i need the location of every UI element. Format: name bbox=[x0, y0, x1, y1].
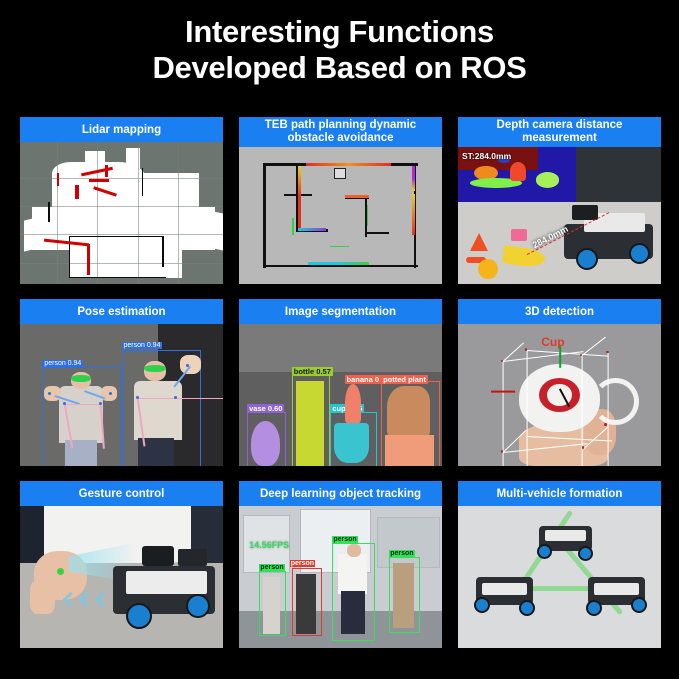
seg-mask-cup bbox=[334, 423, 369, 463]
panel-image-depth-camera: ST:284.0mm 284.0mm bbox=[458, 147, 661, 284]
panel-object-tracking[interactable]: Deep learning object tracking 14.56FPS p… bbox=[239, 481, 442, 648]
person-legs bbox=[65, 440, 97, 466]
panel-pose-estimation[interactable]: Pose estimation person 0.94 bbox=[20, 299, 223, 466]
robot-wheel bbox=[537, 544, 552, 559]
track-label: person bbox=[389, 550, 414, 557]
depth-status-readout: ST:284.0mm bbox=[462, 151, 511, 161]
panel-image-gesture-control bbox=[20, 506, 223, 648]
panel-teb-path-planning[interactable]: TEB path planning dynamic obstacle avoid… bbox=[239, 117, 442, 284]
robot-car-deck bbox=[482, 583, 527, 596]
tracked-person bbox=[393, 563, 413, 628]
page-title: Interesting Functions Developed Based on… bbox=[0, 14, 679, 86]
tracked-person-head bbox=[347, 544, 361, 557]
axis-y bbox=[559, 345, 561, 367]
robot-wheel bbox=[576, 248, 598, 270]
panel-3d-detection[interactable]: 3D detection Cup bbox=[458, 299, 661, 466]
title-line-1: Interesting Functions bbox=[0, 14, 679, 50]
panel-header-object-tracking: Deep learning object tracking bbox=[239, 481, 442, 506]
panel-header-line-1: Depth camera distance bbox=[497, 119, 623, 131]
panel-image-lidar-mapping bbox=[20, 142, 223, 284]
tracked-person bbox=[296, 574, 316, 634]
tracked-person bbox=[263, 577, 279, 634]
panel-depth-camera[interactable]: Depth camera distance measurement ST:284… bbox=[458, 117, 661, 284]
panel-image-teb-path-planning bbox=[239, 147, 442, 284]
track-label: person bbox=[290, 560, 315, 567]
robot-car-deck bbox=[594, 583, 639, 596]
panel-header-3d-detection: 3D detection bbox=[458, 299, 661, 324]
person-hand bbox=[180, 355, 200, 373]
hand-fingers bbox=[30, 580, 54, 614]
panel-image-image-segmentation: vase 0.60 bottle 0.57 cup 0.75 banana 0 … bbox=[239, 324, 442, 466]
panel-header-pose-estimation: Pose estimation bbox=[20, 299, 223, 324]
segment-label-vase: vase 0.60 bbox=[247, 404, 284, 413]
axis-x bbox=[491, 391, 515, 393]
title-line-2: Developed Based on ROS bbox=[0, 50, 679, 86]
panel-header-depth-camera: Depth camera distance measurement bbox=[458, 117, 661, 147]
traffic-cone bbox=[470, 233, 488, 251]
detection-label: person 0.94 bbox=[122, 342, 163, 349]
panel-header-line-1: TEB path planning dynamic bbox=[265, 119, 416, 131]
segment-label-bottle: bottle 0.57 bbox=[292, 367, 333, 376]
robot-wheel bbox=[578, 546, 593, 561]
robot-wheel bbox=[519, 600, 535, 616]
panel-image-pose-estimation: person 0.94 person 0.94 bbox=[20, 324, 223, 466]
seg-mask-bottle bbox=[296, 381, 324, 466]
robot-car-deck bbox=[126, 571, 207, 594]
robot-wheel bbox=[586, 600, 602, 616]
panel-image-segmentation[interactable]: Image segmentation vase 0.60 bottle 0.57… bbox=[239, 299, 442, 466]
panel-image-object-tracking: 14.56FPS person person person person bbox=[239, 506, 442, 648]
robot-sensor bbox=[178, 549, 206, 566]
pink-block bbox=[511, 229, 527, 241]
pegboard-wall bbox=[576, 147, 661, 202]
track-label: person bbox=[259, 564, 284, 571]
panel-multi-vehicle-formation[interactable]: Multi-vehicle formation bbox=[458, 481, 661, 648]
panel-image-3d-detection: Cup bbox=[458, 324, 661, 466]
panel-lidar-mapping[interactable]: Lidar mapping bbox=[20, 117, 223, 284]
person-hand bbox=[44, 386, 60, 400]
robot-camera bbox=[142, 546, 174, 566]
feature-grid: Lidar mapping bbox=[20, 117, 662, 665]
seg-mask-plant bbox=[387, 386, 430, 437]
robot-wheel bbox=[629, 243, 650, 264]
robot-camera bbox=[572, 205, 598, 220]
panel-header-multi-vehicle-formation: Multi-vehicle formation bbox=[458, 481, 661, 506]
panel-header-image-segmentation: Image segmentation bbox=[239, 299, 442, 324]
tracked-person-legs bbox=[341, 591, 365, 634]
fps-readout: 14.56FPS bbox=[249, 540, 289, 550]
segment-label-banana: banana 0 bbox=[345, 375, 382, 384]
robot-wheel bbox=[474, 597, 490, 613]
seg-mask-vase bbox=[251, 421, 279, 466]
segment-label-potted-plant: potted plant bbox=[381, 375, 428, 384]
panel-header-gesture-control: Gesture control bbox=[20, 481, 223, 506]
panel-image-multi-vehicle-formation bbox=[458, 506, 661, 648]
track-label: person bbox=[332, 536, 357, 543]
mug-handle bbox=[592, 378, 639, 425]
seg-mask-banana bbox=[345, 384, 361, 424]
panel-header-lidar-mapping: Lidar mapping bbox=[20, 117, 223, 142]
face-keypoints bbox=[71, 375, 91, 382]
seg-mask-pot bbox=[385, 435, 434, 466]
detection-label: person 0.94 bbox=[42, 360, 83, 367]
object-class-label: Cup bbox=[541, 335, 564, 349]
robot-wheel bbox=[631, 597, 647, 613]
poster-root: Interesting Functions Developed Based on… bbox=[0, 0, 679, 679]
panel-header-line-2: measurement bbox=[522, 132, 597, 144]
panel-header-teb-path-planning: TEB path planning dynamic obstacle avoid… bbox=[239, 117, 442, 147]
tracked-person bbox=[338, 554, 366, 594]
panel-gesture-control[interactable]: Gesture control bbox=[20, 481, 223, 648]
robot-wheel bbox=[126, 603, 152, 629]
panel-header-line-2: obstacle avoidance bbox=[287, 132, 393, 144]
robot-car-deck bbox=[545, 530, 586, 541]
